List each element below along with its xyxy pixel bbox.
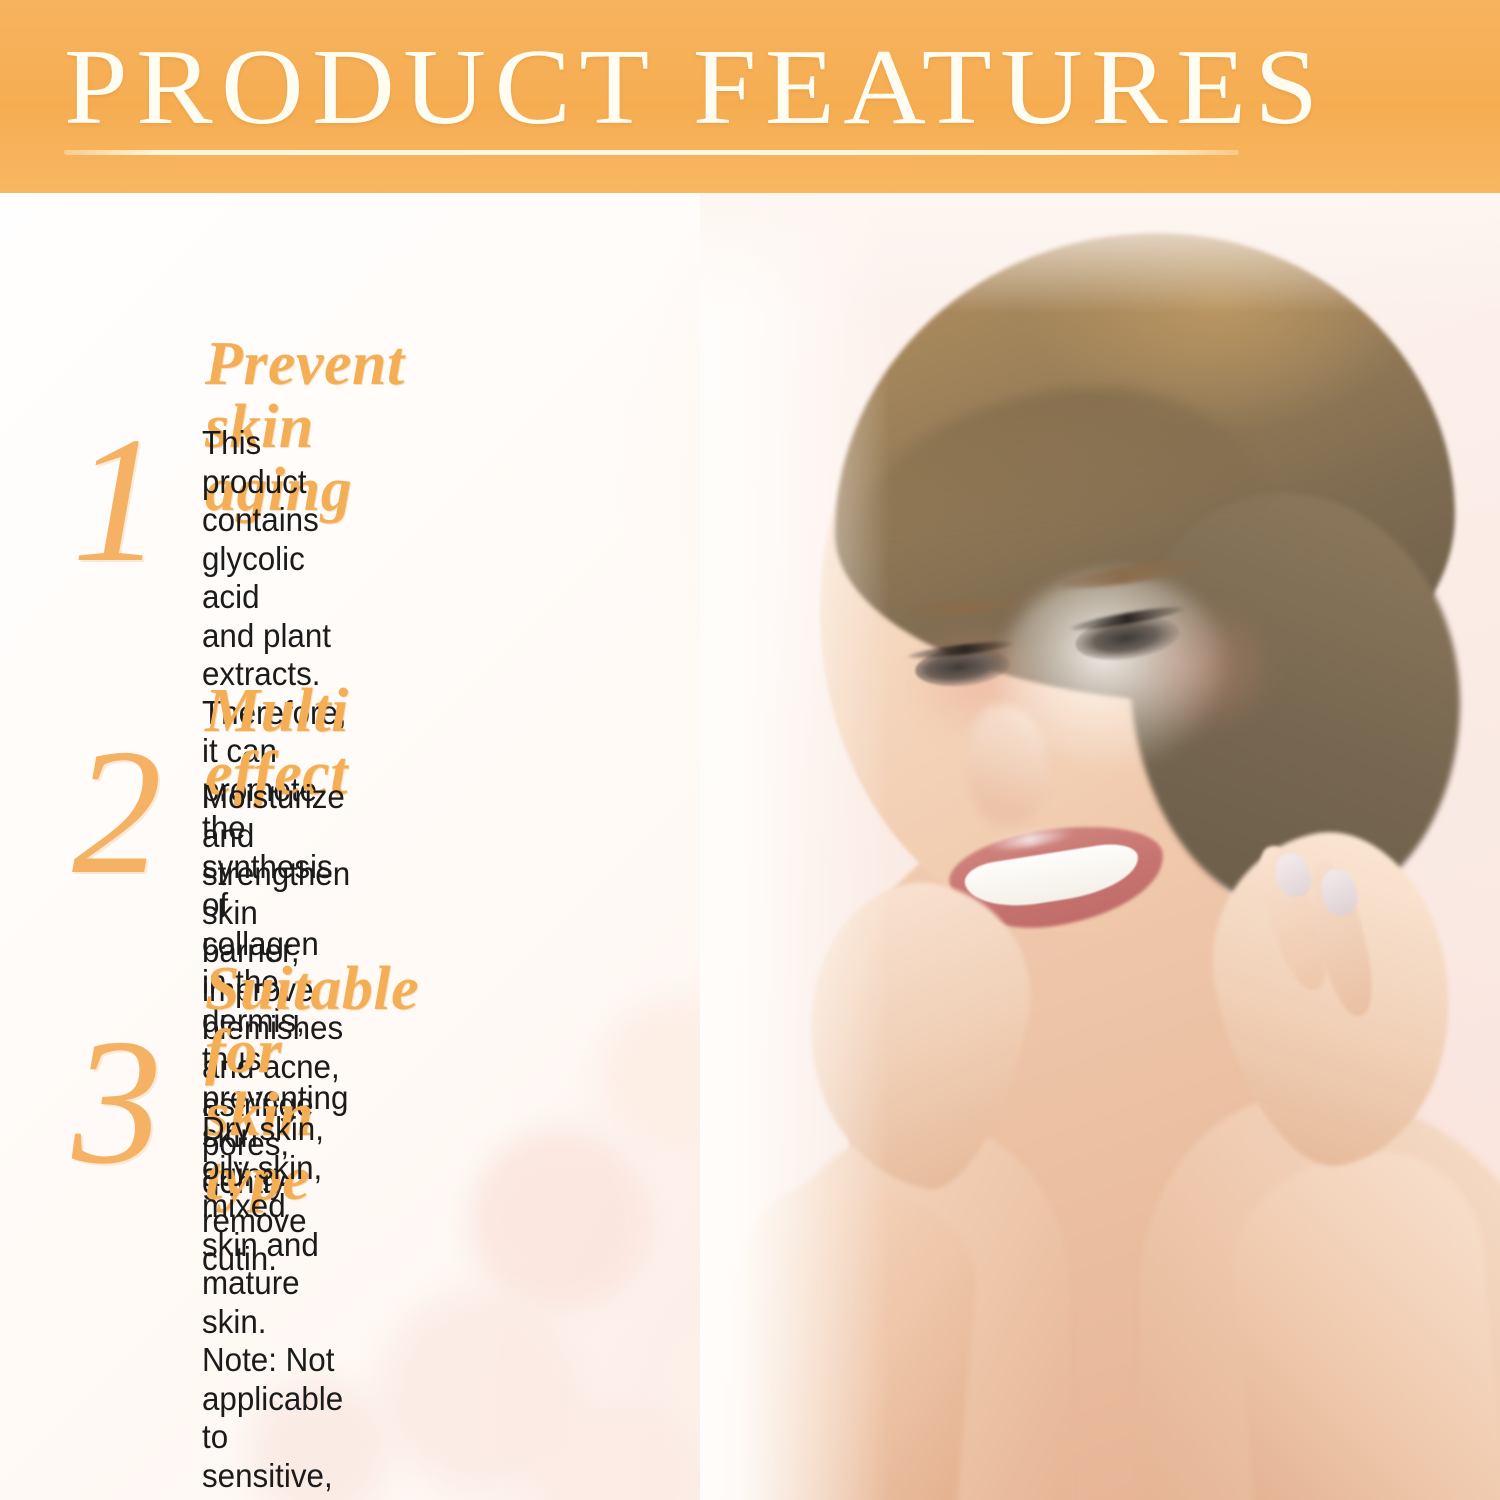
page-title: PRODUCT FEATURES: [64, 34, 1327, 142]
photo-left-fade: [700, 193, 890, 1500]
model-portrait-photo: [700, 193, 1500, 1500]
feature-number-3: 3: [72, 1012, 162, 1192]
header-banner: PRODUCT FEATURES: [0, 0, 1500, 193]
feature-number-2: 2: [72, 722, 162, 902]
bokeh-circle: [470, 1130, 650, 1310]
feature-body-3: Dry skin, oily skin, mixed skin and matu…: [202, 1110, 343, 1500]
feature-number-1: 1: [72, 410, 162, 590]
forearm-right-shape: [1225, 1143, 1500, 1500]
photo-top-fade: [700, 193, 1500, 313]
title-underline-rule: [64, 150, 1239, 155]
product-features-infographic: PRODUCT FEATURES 1 Prevent skin aging Th…: [0, 0, 1500, 1500]
